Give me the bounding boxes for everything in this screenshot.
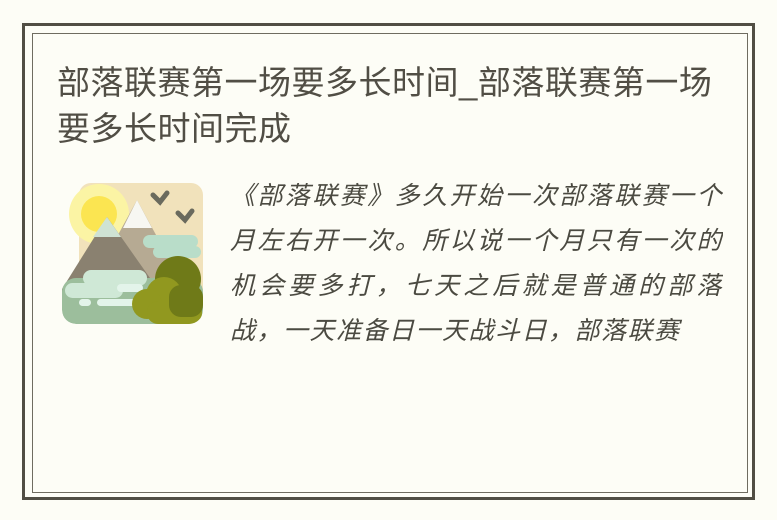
article-container: 部落联赛第一场要多长时间_部落联赛第一场要多长时间完成 (33, 34, 747, 492)
article-body: 《部落联赛》多久开始一次部落联赛一个月左右开一次。所以说一个月只有一次的机会要多… (57, 173, 723, 353)
page-outer-frame: 部落联赛第一场要多长时间_部落联赛第一场要多长时间完成 (22, 23, 755, 500)
mountain-landscape-icon (57, 173, 208, 333)
page-title: 部落联赛第一场要多长时间_部落联赛第一场要多长时间完成 (57, 60, 723, 152)
article-excerpt: 《部落联赛》多久开始一次部落联赛一个月左右开一次。所以说一个月只有一次的机会要多… (230, 173, 723, 353)
article-thumbnail (57, 173, 208, 333)
page-inner-frame: 部落联赛第一场要多长时间_部落联赛第一场要多长时间完成 (32, 33, 748, 493)
